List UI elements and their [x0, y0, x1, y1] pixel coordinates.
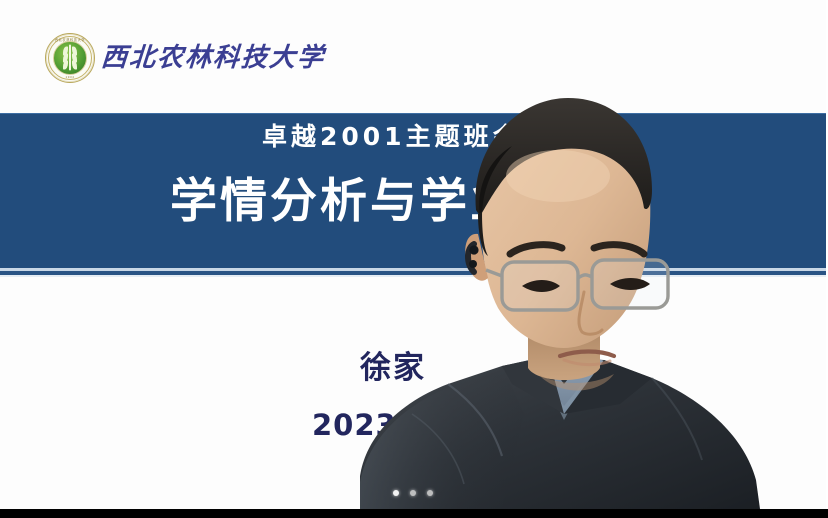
page-dot-2[interactable]: [410, 490, 416, 496]
university-wordmark: 西北农林科技大学: [100, 45, 326, 71]
page-indicator-dots[interactable]: [393, 490, 433, 496]
screen-capture: 西北农林科技大学 1934 西北农林科技大学 卓越2001主题班会 学情分析与学…: [0, 0, 828, 518]
wheat-icon: [63, 44, 77, 70]
bottom-letterbox-bar: [0, 509, 828, 518]
banner-underline-pale: [0, 275, 826, 277]
page-dot-1[interactable]: [393, 490, 399, 496]
seal-bottom-text: 1934: [46, 75, 94, 79]
banner-main-title: 学情分析与学业: [170, 176, 520, 228]
university-seal-icon: 西北农林科技大学 1934: [45, 33, 95, 83]
page-dot-3[interactable]: [427, 490, 433, 496]
presentation-date: 2023年1: [312, 411, 448, 440]
university-logo-block: 西北农林科技大学 1934 西北农林科技大学: [45, 33, 325, 83]
presenter-name: 徐家: [360, 353, 426, 384]
presentation-slide: 西北农林科技大学 1934 西北农林科技大学 卓越2001主题班会 学情分析与学…: [0, 0, 828, 509]
banner-subtitle: 卓越2001主题班会: [262, 124, 522, 149]
